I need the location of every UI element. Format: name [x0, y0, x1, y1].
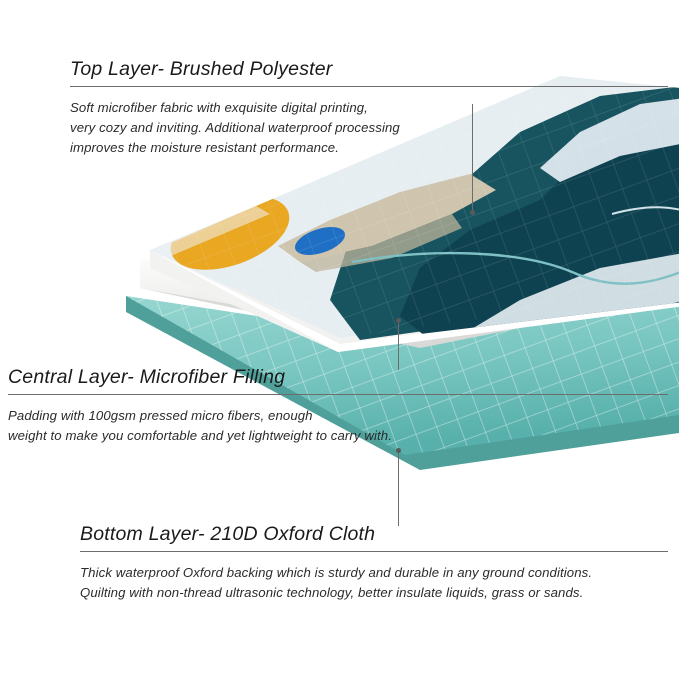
bottom-layer-description-line-1: Thick waterproof Oxford backing which is… — [80, 563, 592, 583]
leader-dot-central-layer — [396, 318, 401, 323]
leader-dot-top-layer — [470, 210, 475, 215]
top-layer-description: Soft microfiber fabric with exquisite di… — [70, 98, 400, 158]
leader-line-central-layer — [398, 322, 399, 370]
leader-dot-bottom-layer — [396, 448, 401, 453]
leader-line-bottom-layer — [398, 452, 399, 526]
top-layer-description-line-1: Soft microfiber fabric with exquisite di… — [70, 98, 400, 118]
bottom-layer-heading: Bottom Layer- 210D Oxford Cloth — [80, 523, 375, 546]
central-layer-heading: Central Layer- Microfiber Filling — [8, 366, 285, 389]
bottom-layer-divider — [80, 551, 668, 552]
bottom-layer-description: Thick waterproof Oxford backing which is… — [80, 563, 592, 603]
central-layer-shape — [140, 240, 679, 348]
product-infographic: Top Layer- Brushed Polyester Soft microf… — [0, 0, 679, 679]
central-layer-description-line-1: Padding with 100gsm pressed micro fibers… — [8, 406, 392, 426]
leader-line-top-layer — [472, 104, 473, 214]
top-layer-heading: Top Layer- Brushed Polyester — [70, 58, 333, 81]
top-layer-description-line-3: improves the moisture resistant performa… — [70, 138, 400, 158]
top-layer-divider — [70, 86, 668, 87]
central-layer-divider — [8, 394, 668, 395]
bottom-layer-description-line-2: Quilting with non-thread ultrasonic tech… — [80, 583, 592, 603]
central-layer-description-line-2: weight to make you comfortable and yet l… — [8, 426, 392, 446]
top-layer-description-line-2: very cozy and inviting. Additional water… — [70, 118, 400, 138]
central-layer-description: Padding with 100gsm pressed micro fibers… — [8, 406, 392, 446]
